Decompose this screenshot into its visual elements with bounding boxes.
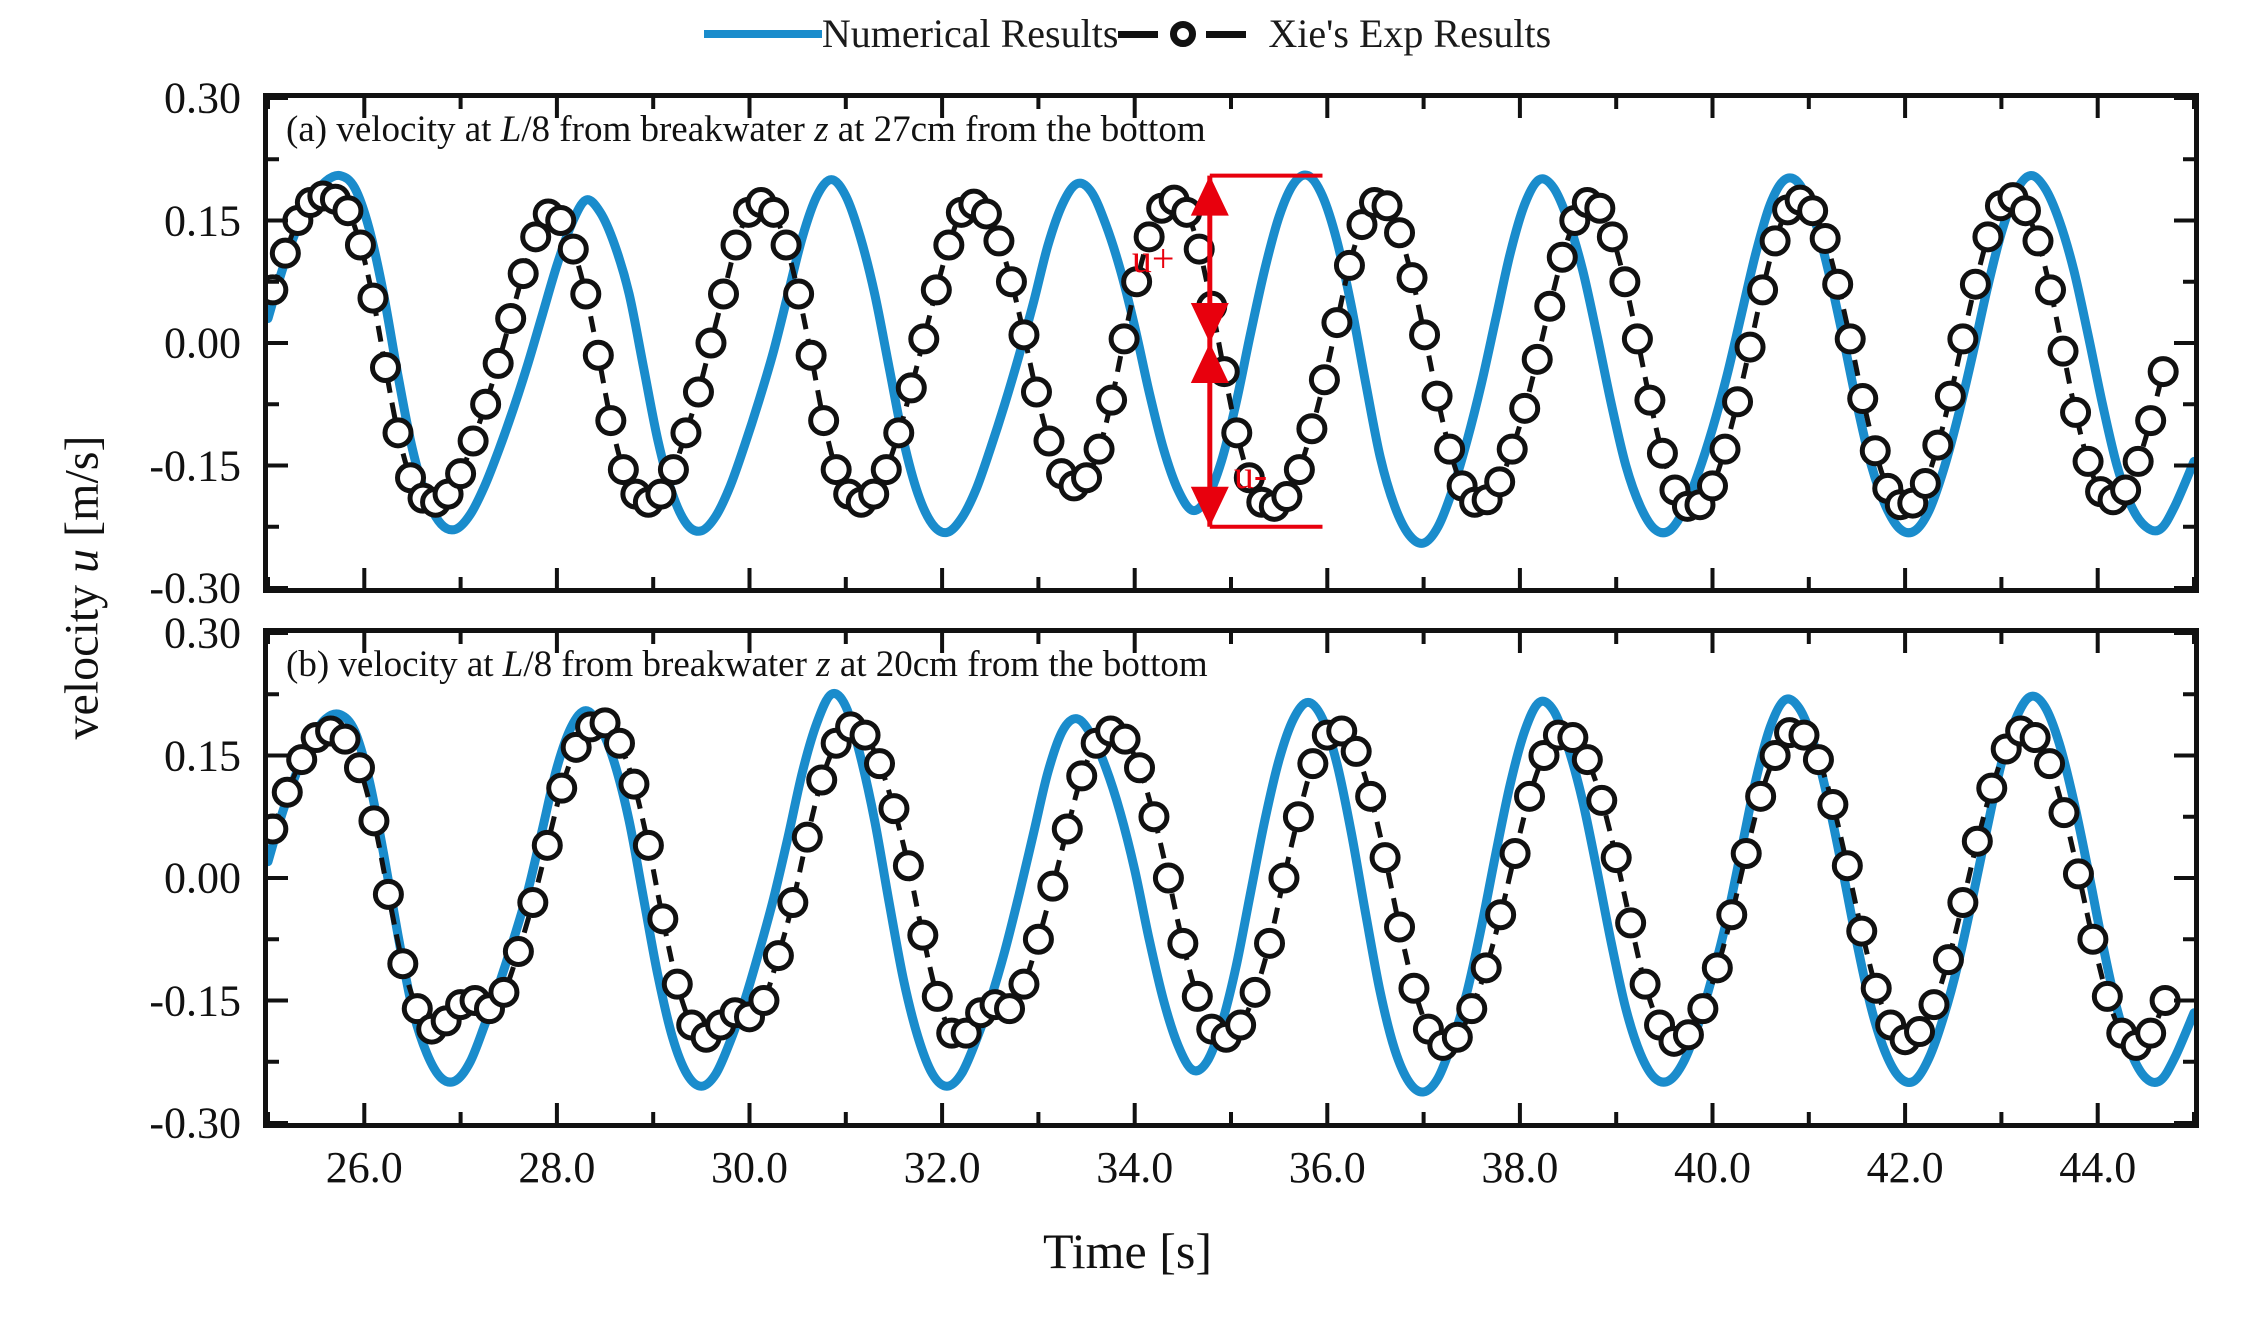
x-tick-label: 42.0 (1815, 1142, 1995, 1193)
x-tick-label: 30.0 (660, 1142, 840, 1193)
y-tick-label: 0.15 (11, 730, 241, 781)
x-tick-label: 26.0 (274, 1142, 454, 1193)
panel-a-caption-post: at 27cm from the bottom (828, 109, 1205, 150)
y-tick-label: 0.15 (11, 195, 241, 246)
legend-label-numerical: Numerical Results (822, 14, 1119, 54)
panel-a-plot-area (268, 98, 2194, 588)
x-tick-label: 44.0 (2008, 1142, 2188, 1193)
plot-panel-a: (a) velocity at L/8 from breakwater z at… (263, 93, 2199, 593)
panel-a-caption-z: z (814, 109, 828, 150)
legend-dash-left-icon (1118, 31, 1158, 38)
y-tick-label: 0.30 (11, 608, 241, 659)
panel-b-caption-z: z (816, 644, 830, 685)
panel-b-caption-L: L (503, 644, 524, 685)
panel-b-caption-pre: (b) velocity at (286, 644, 503, 685)
y-tick-label: 0.00 (11, 318, 241, 369)
x-axis-title: Time [s] (0, 1222, 2255, 1280)
y-tick-label: 0.00 (11, 853, 241, 904)
y-tick-label: -0.30 (11, 563, 241, 614)
legend-dash-right-icon (1206, 31, 1246, 38)
y-tick-label: -0.15 (11, 975, 241, 1026)
panel-b-caption: (b) velocity at L/8 from breakwater z at… (286, 643, 1208, 686)
figure-root: Numerical Results Xie's Exp Results velo… (0, 0, 2255, 1317)
x-tick-label: 36.0 (1237, 1142, 1417, 1193)
panel-a-caption-pre: (a) velocity at (286, 109, 501, 150)
x-tick-label: 34.0 (1045, 1142, 1225, 1193)
panel-b-caption-post: at 20cm from the bottom (831, 644, 1208, 685)
plot-panel-b: (b) velocity at L/8 from breakwater z at… (263, 628, 2199, 1128)
panel-b-plot-area (268, 633, 2194, 1123)
annotation-u-plus-label: u+ (1132, 235, 1175, 282)
panel-a-caption-mid: /8 from breakwater (521, 109, 814, 150)
panel-a-caption-L: L (501, 109, 522, 150)
legend-solid-line-icon (704, 30, 822, 38)
legend-open-circle-icon (1170, 21, 1196, 47)
chart-legend: Numerical Results Xie's Exp Results (0, 6, 2255, 62)
x-tick-label: 32.0 (852, 1142, 1032, 1193)
x-tick-label: 40.0 (1623, 1142, 1803, 1193)
y-tick-label: -0.30 (11, 1098, 241, 1149)
panel-b-caption-mid: /8 from breakwater (523, 644, 816, 685)
x-tick-label: 28.0 (467, 1142, 647, 1193)
y-tick-label: 0.30 (11, 73, 241, 124)
annotation-u-minus-label: u- (1234, 451, 1267, 498)
legend-entry-experimental: Xie's Exp Results (1118, 14, 1551, 54)
legend-entry-numerical: Numerical Results (704, 14, 1119, 54)
legend-label-experimental: Xie's Exp Results (1268, 14, 1551, 54)
x-tick-label: 38.0 (1430, 1142, 1610, 1193)
panel-a-caption: (a) velocity at L/8 from breakwater z at… (286, 108, 1206, 151)
y-tick-label: -0.15 (11, 440, 241, 491)
